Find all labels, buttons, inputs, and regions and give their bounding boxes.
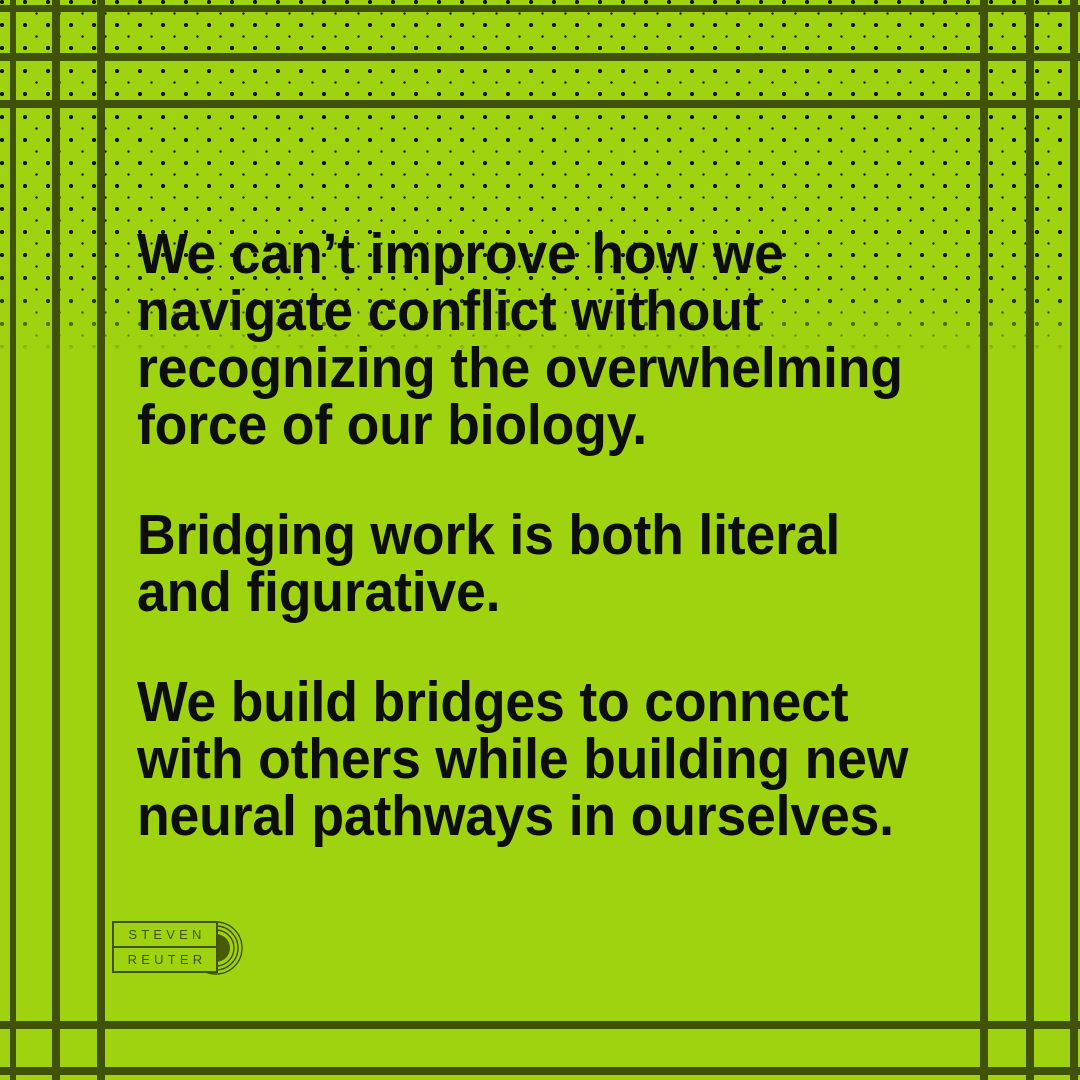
vertical-rule-6 — [1070, 0, 1078, 1080]
paragraph-2: Bridging work is both literal and figura… — [137, 507, 917, 621]
brand-logo: STEVEN REUTER — [112, 921, 262, 975]
horizontal-rule-5 — [0, 1067, 1080, 1075]
vertical-rule-2 — [52, 0, 60, 1080]
paragraph-3: We build bridges to connect with others … — [137, 674, 917, 845]
paragraph-1: We can’t improve how we navigate conflic… — [137, 226, 917, 454]
vertical-rule-5 — [1026, 0, 1034, 1080]
logo-name-last: REUTER — [114, 948, 216, 971]
poster-canvas: We can’t improve how we navigate conflic… — [0, 0, 1080, 1080]
horizontal-rule-2 — [0, 53, 1080, 61]
horizontal-rule-3 — [0, 100, 1080, 108]
vertical-rule-3 — [97, 0, 105, 1080]
headline-copy: We can’t improve how we navigate conflic… — [137, 226, 967, 845]
horizontal-rule-4 — [0, 1021, 1080, 1029]
logo-name-first: STEVEN — [114, 923, 216, 948]
vertical-rule-4 — [980, 0, 988, 1080]
logo-wordmark-box: STEVEN REUTER — [112, 921, 218, 973]
horizontal-rule-1 — [0, 5, 1080, 12]
vertical-rule-1 — [10, 0, 16, 1080]
